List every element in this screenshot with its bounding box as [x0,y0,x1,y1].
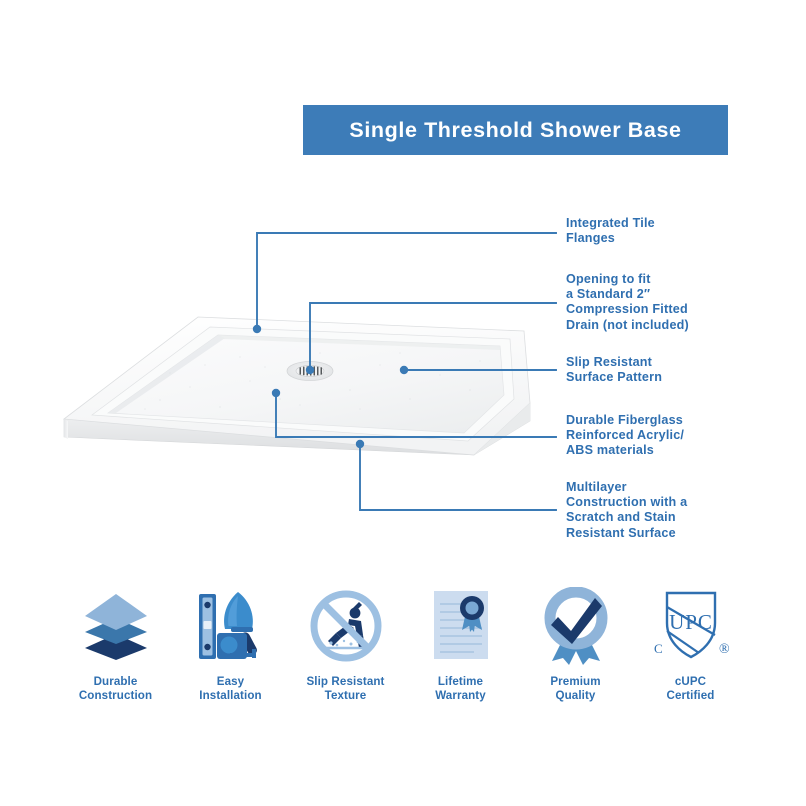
feature-caption: Easy Installation [199,675,261,703]
feature-lifetime-warranty: Lifetime Warranty [403,585,518,703]
feature-caption: Premium Quality [550,675,600,703]
no-slip-prohibition-icon [307,585,385,667]
callout-label-multilayer-construction: Multilayer Construction with a Scratch a… [566,480,687,541]
upc-shield-icon: UPC C ® [649,585,733,667]
callout-label-slip-resistant-surface: Slip Resistant Surface Pattern [566,355,662,385]
feature-slip-resistant-texture: Slip Resistant Texture [288,585,403,703]
feature-durable-construction: Durable Construction [58,585,173,703]
certificate-rosette-icon [426,585,496,667]
callout-label-integrated-tile-flanges: Integrated Tile Flanges [566,216,655,246]
feature-premium-quality: Premium Quality [518,585,633,703]
stacked-layers-icon [77,585,155,667]
page-title: Single Threshold Shower Base [349,118,681,143]
callout-label-drain-opening: Opening to fit a Standard 2″ Compression… [566,272,689,333]
drain-assembly [287,362,333,381]
upc-left-mark: C [654,641,663,656]
feature-caption: Lifetime Warranty [435,675,486,703]
callout-label-durable-fiberglass: Durable Fiberglass Reinforced Acrylic/ A… [566,413,684,459]
upc-shield-text: UPC [669,610,713,634]
base-left-edge [64,419,68,439]
tools-level-trowel-icon [192,585,270,667]
feature-caption: Durable Construction [79,675,152,703]
checkmark-ribbon-icon [538,585,614,667]
feature-easy-installation: Easy Installation [173,585,288,703]
page-title-banner: Single Threshold Shower Base [303,105,728,155]
feature-caption: cUPC Certified [667,675,715,703]
feature-cupc-certified: UPC C ® cUPC Certified [633,585,748,703]
product-illustration [50,295,540,475]
feature-badge-strip: Durable Construction [58,585,748,715]
feature-caption: Slip Resistant Texture [306,675,384,703]
upc-registered-mark: ® [719,642,730,657]
